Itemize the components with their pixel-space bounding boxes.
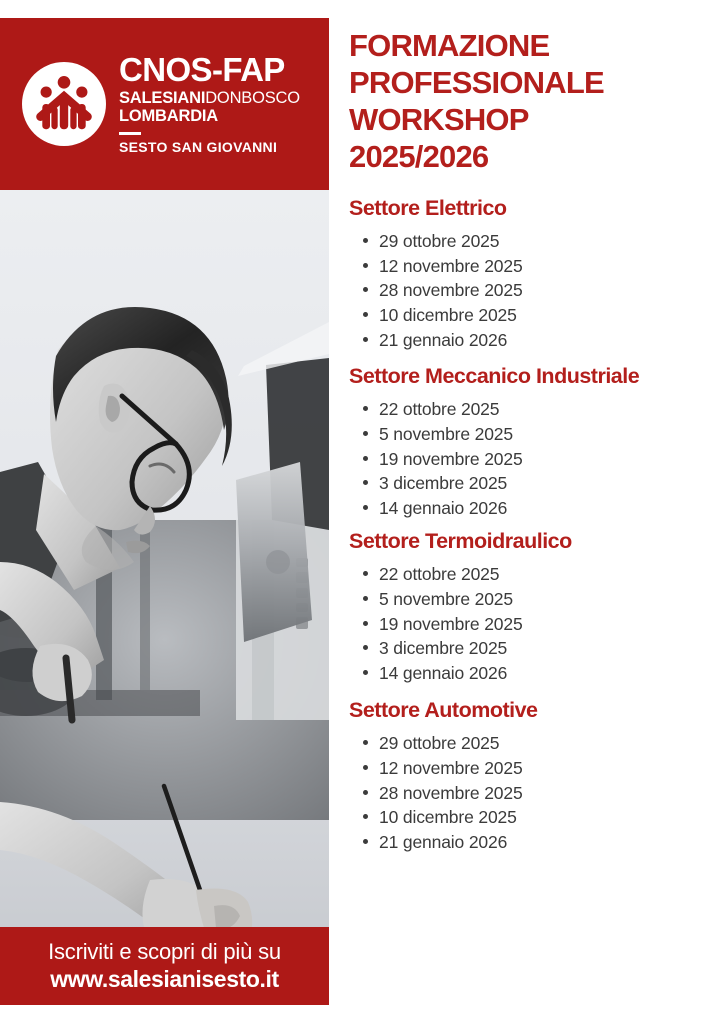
list-item: 10 dicembre 2025 <box>379 805 724 830</box>
left-column: CNOS-FAP SALESIANIDONBOSCO LOMBARDIA SES… <box>0 0 329 1024</box>
bullet-icon <box>363 621 368 626</box>
list-item: 3 dicembre 2025 <box>379 471 724 496</box>
list-item: 14 gennaio 2026 <box>379 661 724 686</box>
list-item: 28 novembre 2025 <box>379 278 724 303</box>
sector-section-elettrico: Settore Elettrico 29 ottobre 2025 12 nov… <box>349 196 724 353</box>
bullet-icon <box>363 505 368 510</box>
sector-sections: Settore Elettrico 29 ottobre 2025 12 nov… <box>349 196 724 855</box>
sector-section-automotive: Settore Automotive 29 ottobre 2025 12 no… <box>349 698 724 855</box>
logo-subtitle-salesiani-donbosco: SALESIANIDONBOSCO <box>119 89 300 107</box>
bullet-icon <box>363 839 368 844</box>
logo-divider <box>119 132 141 135</box>
sector-title: Settore Automotive <box>349 698 724 724</box>
logo-salesiani: SALESIANI <box>119 89 205 107</box>
cnos-fap-three-figures-logo-icon <box>22 62 106 146</box>
bullet-icon <box>363 571 368 576</box>
list-item: 12 novembre 2025 <box>379 756 724 781</box>
date-text: 22 ottobre 2025 <box>379 399 499 419</box>
cta-invite-text: Iscriviti e scopri di più su <box>48 939 281 964</box>
date-text: 28 novembre 2025 <box>379 783 523 803</box>
list-item: 3 dicembre 2025 <box>379 636 724 661</box>
bullet-icon <box>363 765 368 770</box>
date-text: 5 novembre 2025 <box>379 424 513 444</box>
list-item: 12 novembre 2025 <box>379 254 724 279</box>
list-item: 22 ottobre 2025 <box>379 562 724 587</box>
list-item: 22 ottobre 2025 <box>379 397 724 422</box>
sector-title: Settore Meccanico Industriale <box>349 364 724 390</box>
list-item: 14 gennaio 2026 <box>379 496 724 521</box>
bullet-icon <box>363 337 368 342</box>
sector-date-list: 29 ottobre 2025 12 novembre 2025 28 nove… <box>349 731 724 855</box>
bullet-icon <box>363 312 368 317</box>
bullet-icon <box>363 740 368 745</box>
bullet-icon <box>363 645 368 650</box>
headline-line-3: WORKSHOP <box>349 102 604 139</box>
bullet-icon <box>363 790 368 795</box>
sector-section-termoidraulico: Settore Termoidraulico 22 ottobre 2025 5… <box>349 529 724 686</box>
logo-city: SESTO SAN GIOVANNI <box>119 140 300 155</box>
logo-region: LOMBARDIA <box>119 107 300 125</box>
cta-footer-panel: Iscriviti e scopri di più su www.salesia… <box>0 927 329 1005</box>
list-item: 5 novembre 2025 <box>379 422 724 447</box>
date-text: 14 gennaio 2026 <box>379 498 507 518</box>
logo-header-panel: CNOS-FAP SALESIANIDONBOSCO LOMBARDIA SES… <box>0 18 329 190</box>
date-text: 21 gennaio 2026 <box>379 832 507 852</box>
poster-root: CNOS-FAP SALESIANIDONBOSCO LOMBARDIA SES… <box>0 0 724 1024</box>
bullet-icon <box>363 406 368 411</box>
headline-line-2: PROFESSIONALE <box>349 65 604 102</box>
list-item: 10 dicembre 2025 <box>379 303 724 328</box>
date-text: 29 ottobre 2025 <box>379 231 499 251</box>
date-text: 3 dicembre 2025 <box>379 638 507 658</box>
list-item: 21 gennaio 2026 <box>379 830 724 855</box>
date-text: 10 dicembre 2025 <box>379 807 517 827</box>
bullet-icon <box>363 814 368 819</box>
sector-title: Settore Termoidraulico <box>349 529 724 555</box>
bullet-icon <box>363 287 368 292</box>
sector-date-list: 22 ottobre 2025 5 novembre 2025 19 novem… <box>349 562 724 686</box>
list-item: 28 novembre 2025 <box>379 781 724 806</box>
headline-line-1: FORMAZIONE <box>349 28 604 65</box>
date-text: 10 dicembre 2025 <box>379 305 517 325</box>
date-text: 14 gennaio 2026 <box>379 663 507 683</box>
date-text: 29 ottobre 2025 <box>379 733 499 753</box>
date-text: 5 novembre 2025 <box>379 589 513 609</box>
sector-title: Settore Elettrico <box>349 196 724 222</box>
bullet-icon <box>363 456 368 461</box>
headline-line-4: 2025/2026 <box>349 139 604 176</box>
date-text: 22 ottobre 2025 <box>379 564 499 584</box>
sector-date-list: 22 ottobre 2025 5 novembre 2025 19 novem… <box>349 397 724 521</box>
bullet-icon <box>363 263 368 268</box>
list-item: 19 novembre 2025 <box>379 447 724 472</box>
date-text: 28 novembre 2025 <box>379 280 523 300</box>
list-item: 29 ottobre 2025 <box>379 229 724 254</box>
logo-donbosco: DONBOSCO <box>205 89 300 107</box>
bullet-icon <box>363 480 368 485</box>
workshop-photo <box>0 190 329 932</box>
sector-date-list: 29 ottobre 2025 12 novembre 2025 28 nove… <box>349 229 724 353</box>
bullet-icon <box>363 431 368 436</box>
date-text: 21 gennaio 2026 <box>379 330 507 350</box>
date-text: 12 novembre 2025 <box>379 758 523 778</box>
logo-wordmark: CNOS-FAP SALESIANIDONBOSCO LOMBARDIA SES… <box>119 53 300 155</box>
date-text: 19 novembre 2025 <box>379 449 523 469</box>
bullet-icon <box>363 596 368 601</box>
date-text: 19 novembre 2025 <box>379 614 523 634</box>
page-title: FORMAZIONE PROFESSIONALE WORKSHOP 2025/2… <box>349 28 604 176</box>
list-item: 21 gennaio 2026 <box>379 328 724 353</box>
bullet-icon <box>363 238 368 243</box>
sector-section-meccanico-industriale: Settore Meccanico Industriale 22 ottobre… <box>349 364 724 521</box>
list-item: 5 novembre 2025 <box>379 587 724 612</box>
date-text: 12 novembre 2025 <box>379 256 523 276</box>
right-column: FORMAZIONE PROFESSIONALE WORKSHOP 2025/2… <box>349 0 724 1024</box>
bullet-icon <box>363 670 368 675</box>
list-item: 29 ottobre 2025 <box>379 731 724 756</box>
list-item: 19 novembre 2025 <box>379 612 724 637</box>
date-text: 3 dicembre 2025 <box>379 473 507 493</box>
logo-title: CNOS-FAP <box>119 53 300 86</box>
cta-website-link[interactable]: www.salesianisesto.it <box>50 966 279 993</box>
